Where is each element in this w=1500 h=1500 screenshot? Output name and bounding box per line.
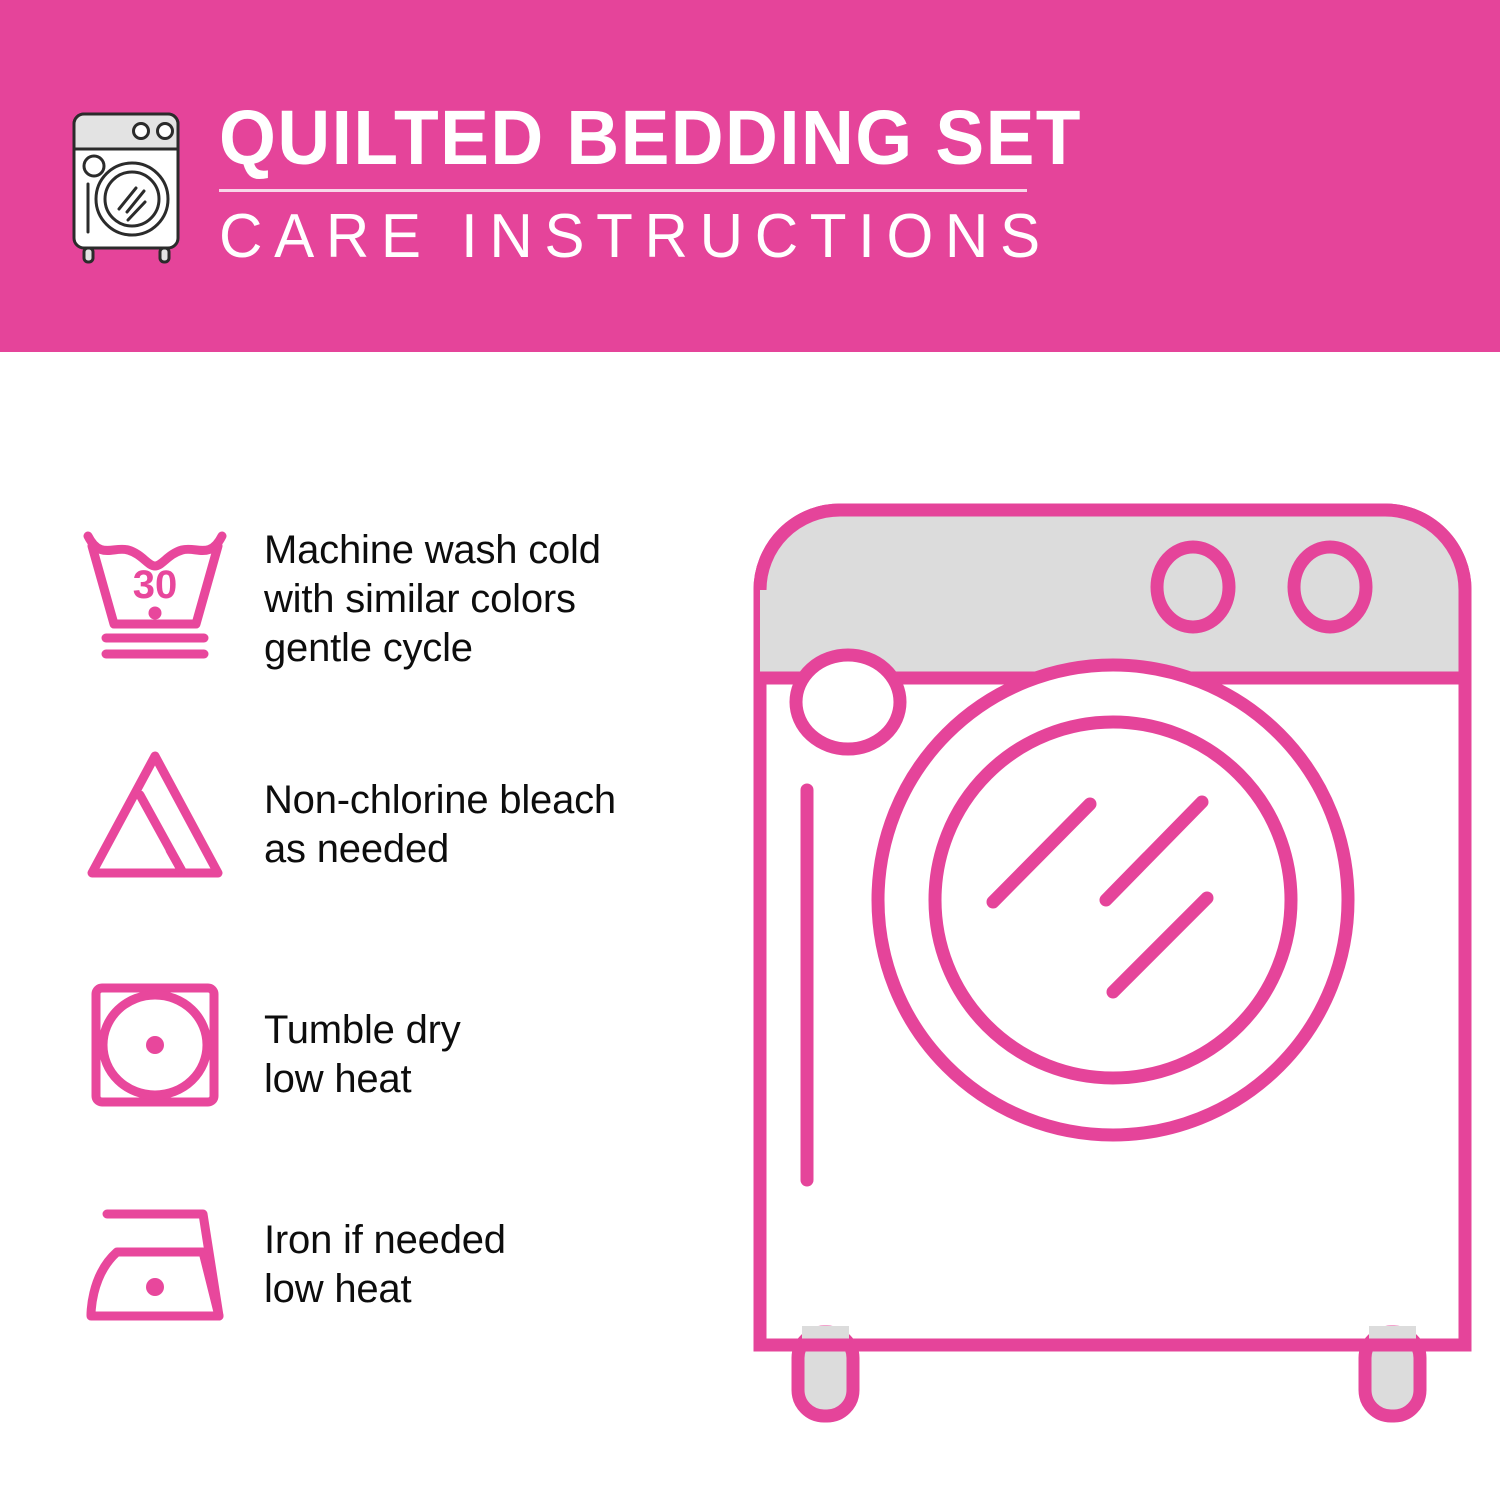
care-instruction-list: 30 Machine wash cold with similar colors… (0, 352, 740, 1500)
care-item-label: Machine wash cold with similar colors ge… (264, 520, 601, 672)
care-item-label: Tumble dry low heat (264, 970, 461, 1104)
washing-machine-illustration (740, 480, 1485, 1445)
page-subtitle: CARE INSTRUCTIONS (219, 206, 1100, 268)
care-item-bleach: Non-chlorine bleach as needed (70, 740, 730, 890)
header-banner: QUILTED BEDDING SET CARE INSTRUCTIONS (0, 0, 1500, 352)
care-item-tumble-dry: Tumble dry low heat (70, 970, 730, 1120)
header-content: QUILTED BEDDING SET CARE INSTRUCTIONS (62, 100, 1127, 268)
care-item-label: Non-chlorine bleach as needed (264, 740, 616, 874)
care-item-machine-wash: 30 Machine wash cold with similar colors… (70, 520, 730, 672)
washing-machine-icon (62, 106, 197, 266)
wash-temperature-value: 30 (133, 563, 178, 607)
washer-indicator-light (796, 655, 900, 749)
non-chlorine-bleach-symbol (70, 740, 240, 890)
washer-knob-right (1294, 547, 1366, 627)
header-text-block: QUILTED BEDDING SET CARE INSTRUCTIONS (219, 100, 1127, 268)
page-title: QUILTED BEDDING SET (219, 100, 1082, 177)
machine-wash-30-gentle-symbol: 30 (70, 520, 240, 670)
care-item-label: Iron if needed low heat (264, 1190, 506, 1314)
washer-knob-left (1157, 547, 1229, 627)
header-divider (219, 189, 1027, 192)
care-item-iron: Iron if needed low heat (70, 1190, 730, 1340)
tumble-dry-low-symbol (70, 970, 240, 1120)
iron-low-heat-symbol (70, 1190, 240, 1340)
